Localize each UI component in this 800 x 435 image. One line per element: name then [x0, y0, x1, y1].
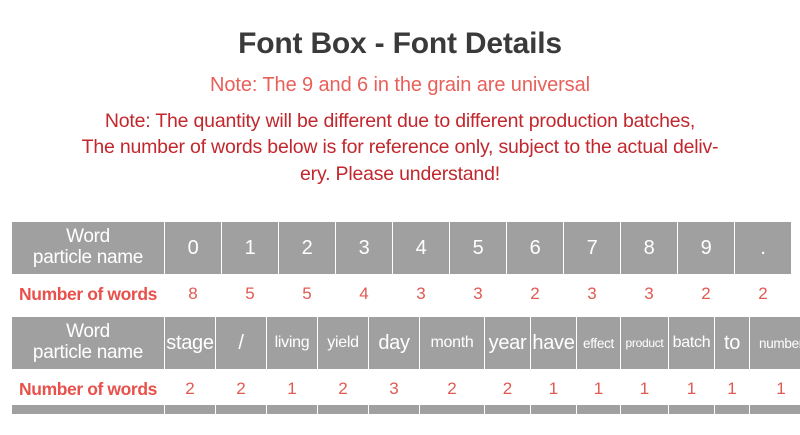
table-cell: 3	[564, 274, 620, 314]
table-cell: 3	[450, 274, 506, 314]
table-cell: 5	[222, 274, 278, 314]
next-table-header-strip	[11, 405, 793, 414]
column-header: product	[621, 317, 668, 369]
column-header: 0	[165, 222, 221, 274]
table-cell: 3	[393, 274, 449, 314]
strip-cell	[318, 405, 368, 414]
strip-row	[12, 405, 800, 414]
table-cell: 2	[420, 369, 484, 409]
table-cell: 5	[279, 274, 335, 314]
column-header: batch	[669, 317, 714, 369]
column-header: 7	[564, 222, 620, 274]
column-header: have	[531, 317, 576, 369]
column-header: to	[715, 317, 749, 369]
digits-table-header-row: Word particle name 0 1 2 3 4 5 6 7 8 9 .	[12, 222, 791, 274]
strip-cell	[669, 405, 714, 414]
heading-block: Font Box - Font Details Note: The 9 and …	[0, 0, 800, 188]
disclaimer-line-2: The number of words below is for referen…	[24, 134, 776, 161]
column-header: month	[420, 317, 484, 369]
strip-cell	[577, 405, 620, 414]
strip-cell	[715, 405, 749, 414]
strip-cell	[165, 405, 215, 414]
column-header: day	[369, 317, 419, 369]
disclaimer-paragraph: Note: The quantity will be different due…	[0, 108, 800, 188]
row-label-values: Number of words	[12, 369, 164, 409]
table-cell: 2	[318, 369, 368, 409]
column-header: .	[735, 222, 791, 274]
strip-cell	[216, 405, 266, 414]
row-label-header-line1: Word	[12, 322, 164, 343]
grain-note: Note: The 9 and 6 in the grain are unive…	[0, 73, 800, 97]
words-table-value-row: Number of words 2 2 1 2 3 2 2 1 1 1 1 1 …	[12, 369, 800, 409]
table-cell: 2	[507, 274, 563, 314]
column-header: living	[267, 317, 317, 369]
table-cell: 3	[369, 369, 419, 409]
strip-cell	[12, 405, 164, 414]
column-header: 1	[222, 222, 278, 274]
strip-cell	[621, 405, 668, 414]
font-details-page: Font Box - Font Details Note: The 9 and …	[0, 0, 800, 435]
table-cell: 3	[621, 274, 677, 314]
disclaimer-line-3: ery. Please understand!	[24, 161, 776, 188]
strip-cell	[750, 405, 800, 414]
table-cell: 1	[715, 369, 749, 409]
disclaimer-line-1: Note: The quantity will be different due…	[24, 108, 776, 135]
column-header: 4	[393, 222, 449, 274]
digits-table: Word particle name 0 1 2 3 4 5 6 7 8 9 .…	[11, 222, 792, 314]
row-label-header: Word particle name	[12, 222, 164, 274]
table-cell: 1	[531, 369, 576, 409]
column-header: 8	[621, 222, 677, 274]
row-label-header-line2: particle name	[12, 343, 164, 364]
strip-cell	[531, 405, 576, 414]
table-cell: 2	[678, 274, 734, 314]
row-label-header: Word particle name	[12, 317, 164, 369]
column-header: stage	[165, 317, 215, 369]
table-cell: 1	[621, 369, 668, 409]
column-header: 9	[678, 222, 734, 274]
table-cell: 1	[669, 369, 714, 409]
column-header: 2	[279, 222, 335, 274]
digits-table-value-row: Number of words 8 5 5 4 3 3 2 3 3 2 2	[12, 274, 791, 314]
table-cell: 1	[750, 369, 800, 409]
strip-cell	[369, 405, 419, 414]
row-label-values: Number of words	[12, 274, 164, 314]
page-title: Font Box - Font Details	[0, 27, 800, 62]
table-cell: 2	[735, 274, 791, 314]
column-header: number	[750, 317, 800, 369]
table-cell: 2	[485, 369, 530, 409]
column-header: year	[485, 317, 530, 369]
row-label-header-line2: particle name	[12, 248, 164, 269]
column-header: yield	[318, 317, 368, 369]
row-label-header-line1: Word	[12, 227, 164, 248]
column-header: /	[216, 317, 266, 369]
strip-cell	[485, 405, 530, 414]
table-cell: 2	[216, 369, 266, 409]
column-header: effect	[577, 317, 620, 369]
column-header: 3	[336, 222, 392, 274]
words-table-header-row: Word particle name stage / living yield …	[12, 317, 800, 369]
strip-cell	[420, 405, 484, 414]
table-cell: 8	[165, 274, 221, 314]
words-table: Word particle name stage / living yield …	[11, 317, 800, 409]
column-header: 6	[507, 222, 563, 274]
tables-container: Word particle name 0 1 2 3 4 5 6 7 8 9 .…	[11, 222, 793, 409]
table-cell: 4	[336, 274, 392, 314]
table-cell: 1	[577, 369, 620, 409]
table-cell: 1	[267, 369, 317, 409]
table-cell: 2	[165, 369, 215, 409]
column-header: 5	[450, 222, 506, 274]
strip-cell	[267, 405, 317, 414]
